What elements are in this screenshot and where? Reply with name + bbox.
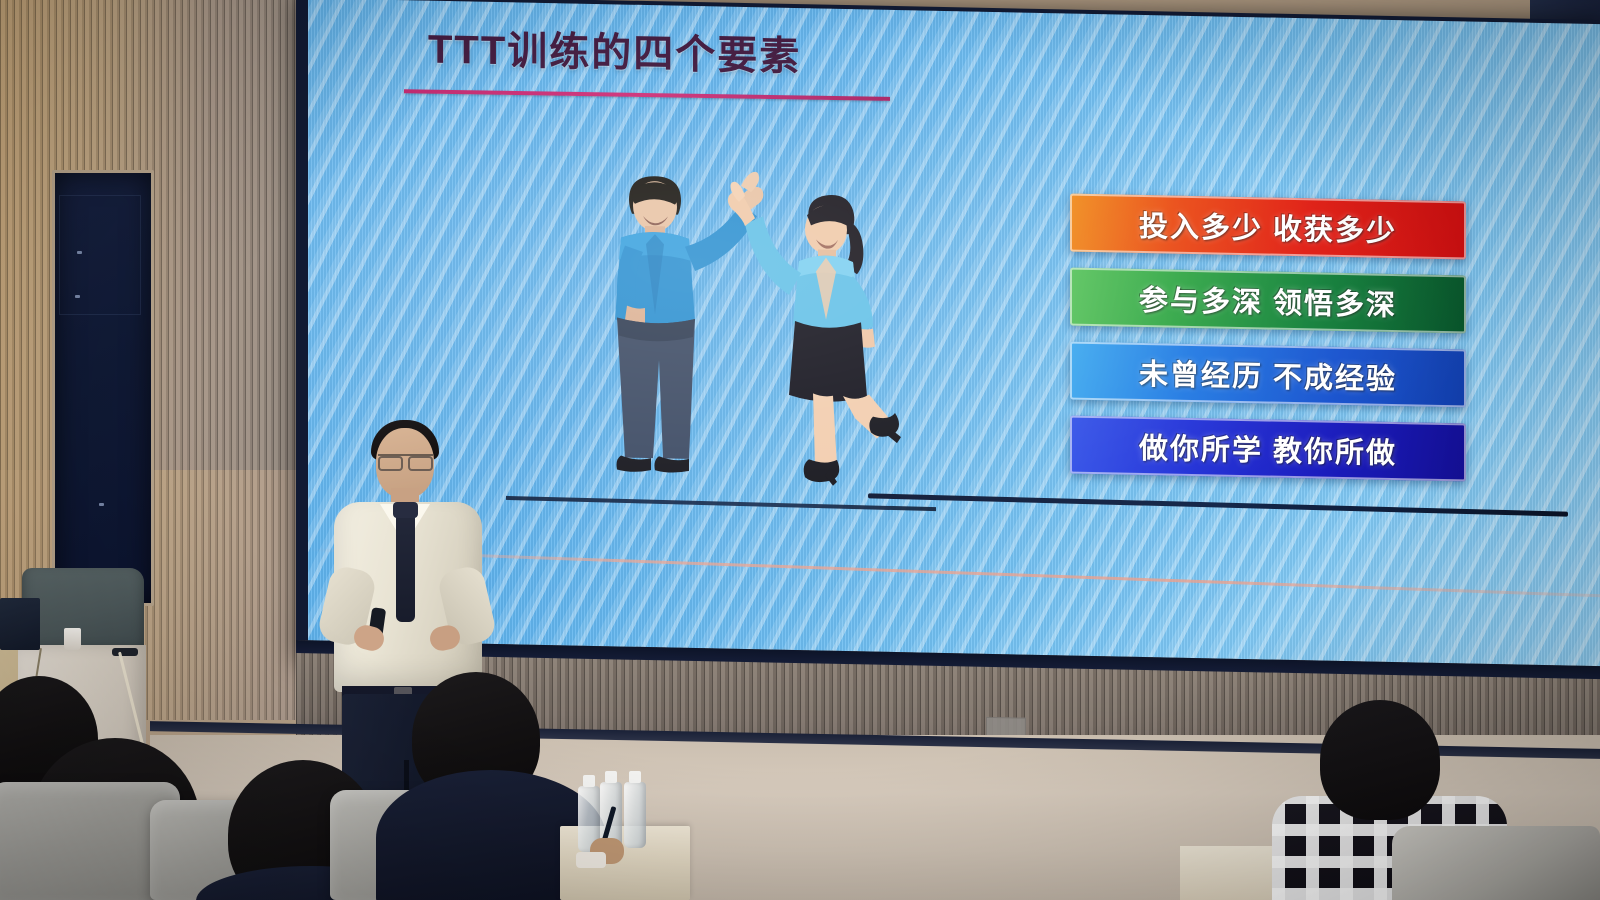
- panel-indicator-dot: [77, 251, 82, 254]
- banner-green[interactable]: 参与多深 领悟多深: [1070, 268, 1466, 334]
- banner-indigo[interactable]: 做你所学 教你所做: [1070, 416, 1466, 482]
- high-five-figures-svg: [573, 159, 913, 511]
- banner-text: 投入多少 收获多少: [1139, 203, 1397, 250]
- remote-control: [112, 648, 138, 656]
- banner-blue[interactable]: 未曾经历 不成经验: [1070, 342, 1466, 408]
- slide-accent-line: [308, 548, 1600, 597]
- banner-list: 投入多少 收获多少 参与多深 领悟多深 未曾经历 不成经验 做你所学 教你所做: [1070, 194, 1466, 498]
- podium-top: [22, 568, 144, 656]
- shirt-cuff: [576, 852, 606, 868]
- high-five-illustration: [573, 159, 913, 511]
- glasses-icon: [378, 454, 433, 467]
- banner-red[interactable]: 投入多少 收获多少: [1070, 194, 1466, 260]
- slide-title: TTT训练的四个要素: [428, 17, 801, 82]
- laptop: [0, 598, 40, 650]
- title-underline-rule: [404, 89, 890, 101]
- presenter-tie: [396, 510, 415, 622]
- white-cup: [64, 628, 81, 650]
- projection-screen: TTT训练的四个要素: [308, 0, 1600, 672]
- presentation-slide: TTT训练的四个要素: [308, 0, 1600, 672]
- water-bottle: [624, 782, 646, 848]
- navy-display-panel: [52, 170, 154, 606]
- audience-chair: [1392, 826, 1600, 900]
- banner-text: 未曾经历 不成经验: [1139, 351, 1397, 398]
- photo-scene: TTT训练的四个要素: [0, 0, 1600, 900]
- banner-text: 参与多深 领悟多深: [1139, 277, 1397, 324]
- audience-head: [1320, 700, 1440, 820]
- panel-indicator-dot: [99, 503, 104, 506]
- panel-indicator-dot: [75, 295, 80, 298]
- banner-text: 做你所学 教你所做: [1139, 425, 1397, 472]
